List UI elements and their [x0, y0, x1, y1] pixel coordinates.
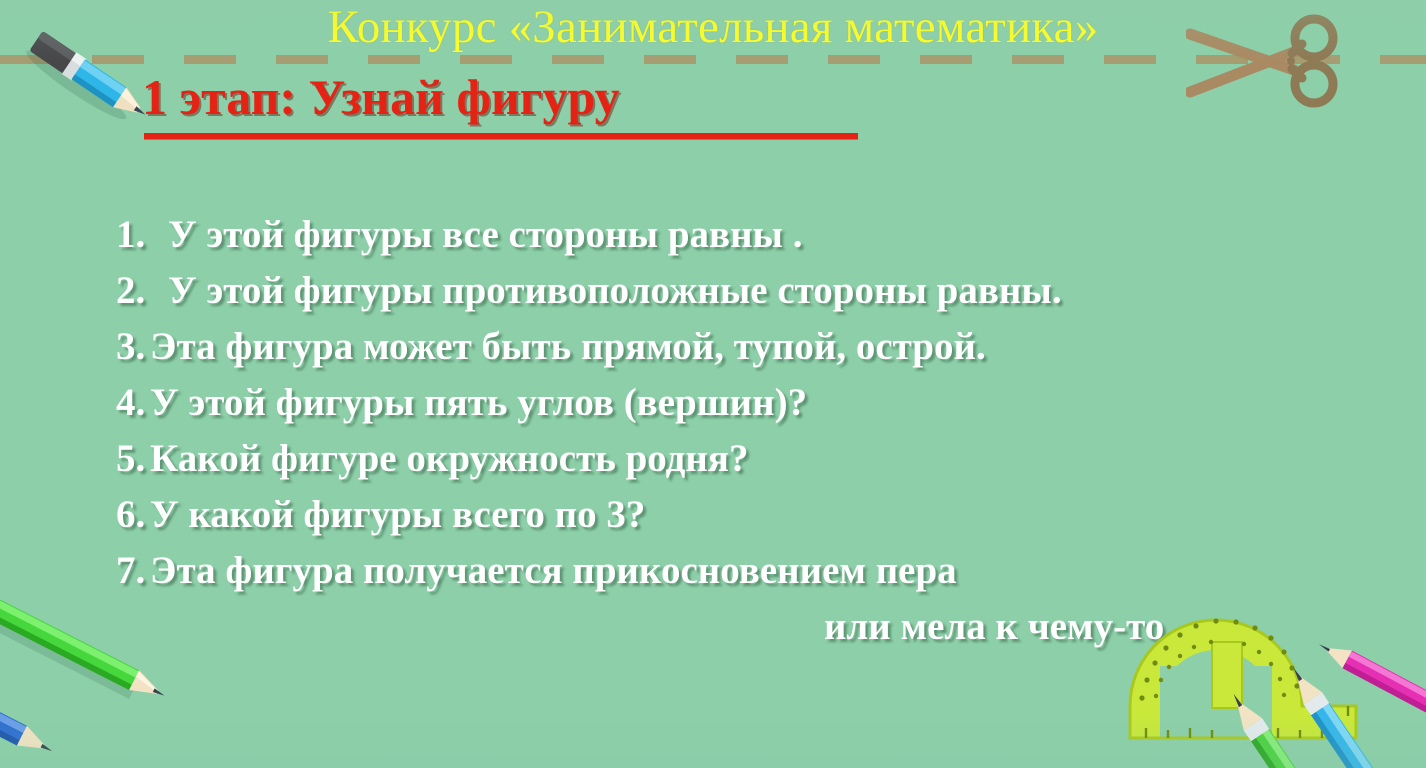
- list-item-number: 2.: [116, 263, 168, 319]
- tools-group-bottom-right: [1116, 546, 1426, 768]
- list-item: 2.У этой фигуры противоположные стороны …: [116, 263, 1366, 319]
- list-item-text: Эта фигура может быть прямой, тупой, ост…: [150, 325, 986, 368]
- page-title-stage-wrapper: 1 этап: Узнай фигуру: [142, 66, 862, 128]
- green-pencil-icon: [0, 553, 169, 713]
- list-item-text: Какой фигуре окружность родня?: [150, 437, 748, 480]
- list-item-text: У какой фигуры всего по 3?: [150, 493, 645, 536]
- list-item-number: 6.: [116, 487, 150, 543]
- pencil-group-bottom-left: [0, 553, 300, 768]
- list-item-number: 4.: [116, 375, 150, 431]
- list-item-number: 3.: [116, 319, 150, 375]
- list-item-number: 5.: [116, 431, 150, 487]
- list-item-text: У этой фигуры пять углов (вершин)?: [150, 381, 807, 424]
- list-item: 6.У какой фигуры всего по 3?: [116, 487, 1366, 543]
- list-item: 5.Какой фигуре окружность родня?: [116, 431, 1366, 487]
- list-item: 1.У этой фигуры все стороны равны .: [116, 207, 1366, 263]
- list-item-text: У этой фигуры все стороны равны .: [168, 213, 803, 256]
- slide-canvas: Конкурс «Занимательная математика» 1 эта…: [0, 0, 1426, 768]
- page-title-stage: 1 этап: Узнай фигуру: [142, 66, 862, 128]
- list-item: 3.Эта фигура может быть прямой, тупой, о…: [116, 319, 1366, 375]
- page-title-contest: Конкурс «Занимательная математика»: [0, 0, 1426, 56]
- list-item-text: У этой фигуры противоположные стороны ра…: [168, 269, 1062, 312]
- list-item-number: 1.: [116, 207, 168, 263]
- title-underline: [144, 133, 858, 139]
- list-item: 4.У этой фигуры пять углов (вершин)?: [116, 375, 1366, 431]
